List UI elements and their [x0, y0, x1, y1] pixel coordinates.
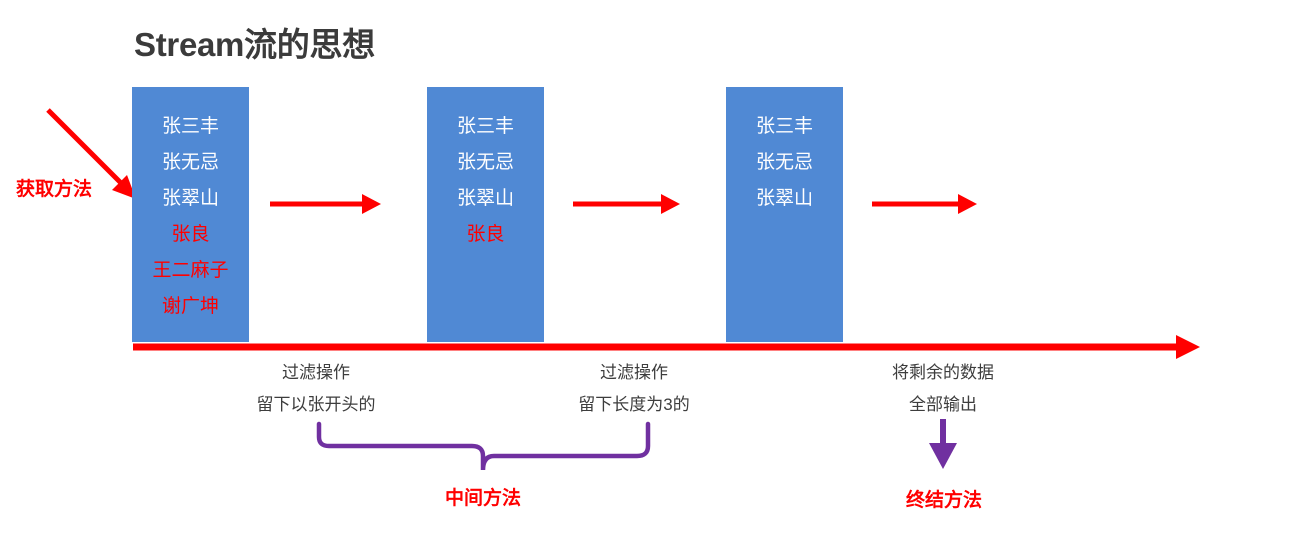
list-item: 张三丰: [726, 109, 843, 145]
data-box-3: 张三丰 张无忌 张翠山: [726, 87, 843, 342]
list-item: 张三丰: [132, 109, 249, 145]
intermediate-method-label: 中间方法: [400, 483, 566, 510]
list-item: 谢广坤: [132, 289, 249, 325]
list-item: 张翠山: [132, 181, 249, 217]
list-item: 张良: [132, 217, 249, 253]
operation-caption-1: 过滤操作 留下以张开头的: [230, 357, 402, 421]
list-item: 张无忌: [427, 145, 544, 181]
list-item: 张无忌: [726, 145, 843, 181]
step-arrow-3-icon: [872, 194, 977, 214]
caption-line: 留下长度为3的: [548, 389, 720, 421]
caption-line: 留下以张开头的: [230, 389, 402, 421]
step-arrow-2-icon: [573, 194, 680, 214]
acquire-method-label: 获取方法: [16, 174, 92, 201]
list-item: 张三丰: [427, 109, 544, 145]
list-item: 王二麻子: [132, 253, 249, 289]
caption-line: 过滤操作: [230, 357, 402, 389]
caption-line: 将剩余的数据: [857, 357, 1029, 389]
list-item: 张翠山: [427, 181, 544, 217]
page-title: Stream流的思想: [134, 18, 375, 66]
data-box-1: 张三丰 张无忌 张翠山 张良 王二麻子 谢广坤: [132, 87, 249, 342]
stream-axis-arrow-icon: [133, 335, 1200, 359]
data-box-2: 张三丰 张无忌 张翠山 张良: [427, 87, 544, 342]
terminal-method-label: 终结方法: [861, 485, 1027, 512]
caption-line: 过滤操作: [548, 357, 720, 389]
list-item: 张良: [427, 217, 544, 253]
caption-line: 全部输出: [857, 389, 1029, 421]
intermediate-brace-icon: [319, 424, 648, 470]
list-item: 张无忌: [132, 145, 249, 181]
step-arrow-1-icon: [270, 194, 381, 214]
terminal-arrow-icon: [929, 419, 957, 469]
list-item: 张翠山: [726, 181, 843, 217]
operation-caption-2: 过滤操作 留下长度为3的: [548, 357, 720, 421]
operation-caption-3: 将剩余的数据 全部输出: [857, 357, 1029, 421]
